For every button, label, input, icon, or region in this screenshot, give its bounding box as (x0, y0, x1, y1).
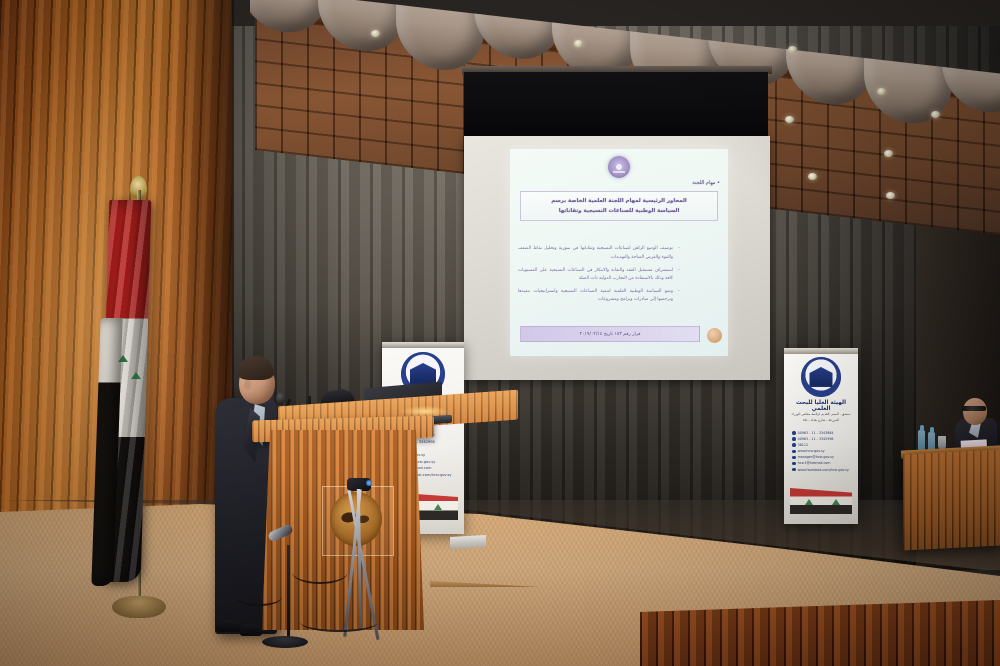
slide-bullet: استشراف مستقبل العقد والتقانة والابتكار … (518, 267, 680, 285)
slide-footer-decision-bar: قرار رقم ١٥٣ تاريخ ٢٠١٩/٠٢/١٤ (520, 326, 700, 342)
speaker-ear (244, 380, 251, 390)
flag-star-icon (118, 355, 128, 362)
contact-bullet-icon (792, 437, 796, 441)
ceiling-light-icon (886, 192, 895, 199)
speaker-shoe (216, 620, 242, 632)
slide-corner-dot-icon (707, 328, 722, 343)
conference-hall-photo: • مهام اللجنة المحاور الرئيسية لمهام الل… (0, 0, 1000, 666)
slide-title-box: المحاور الرئيسية لمهام اللجنة العلمية ال… (520, 191, 718, 221)
side-table (903, 449, 1000, 550)
banner-contact-list: 00963 - 11 - 3343864 00963 - 11 - 334299… (792, 430, 852, 473)
seated-official-head (963, 398, 987, 425)
tripod-indicator-icon (366, 480, 372, 486)
projected-slide: • مهام اللجنة المحاور الرئيسية لمهام الل… (510, 149, 728, 356)
banner-flag-star-icon (434, 504, 442, 510)
flag-star-icon (131, 372, 141, 379)
mail-icon (792, 456, 796, 460)
pull-down-projection-screen: • مهام اللجنة المحاور الرئيسية لمهام الل… (462, 66, 772, 384)
ceiling-light-icon (884, 150, 893, 157)
slide-bullet: توصيف الوضع الراهن لصناعات النسيجية وتقا… (518, 245, 680, 263)
contact-bullet-icon (792, 443, 796, 447)
slide-header-text: • مهام اللجنة (692, 180, 720, 186)
rollup-banner-right: الهيئة العليا للبحث العلمي دمشق - المبنى… (784, 348, 858, 524)
sunglasses-icon (962, 406, 986, 411)
flagpole-base (112, 596, 166, 618)
floor-microphone-stand (287, 545, 290, 645)
banner-flag-star-icon (832, 499, 840, 505)
slide-title-line-1: المحاور الرئيسية لمهام اللجنة العلمية ال… (524, 196, 714, 206)
slide-bullet-list: توصيف الوضع الراهن لصناعات النسيجية وتقا… (518, 245, 720, 308)
contact-bullet-icon (792, 431, 796, 435)
banner-subtitle-line-2: المزرعة - شارع بغداد - ط٥ (790, 418, 852, 422)
ceiling-light-icon (785, 116, 794, 123)
podium-microphone-head-icon (276, 392, 285, 405)
valance-drape (250, 0, 328, 37)
slide-title-line-2: السياسة الوطنية للصناعات النسيجية وتقانا… (524, 206, 714, 216)
valance-drape (474, 0, 562, 64)
slide-bullet: وضع السياسة الوطنية العلمية لتنمية الصنا… (518, 288, 680, 306)
banner-subtitle-line-1: دمشق - المبنى القديم لرئاسة مجلس الوزراء (790, 412, 852, 416)
drinking-glass (938, 436, 946, 449)
audio-cable (236, 588, 282, 606)
banner-title: الهيئة العليا للبحث العلمي (788, 400, 854, 412)
screen-black-leader (464, 72, 768, 138)
ceiling-light-icon (931, 111, 940, 118)
globe-icon (792, 450, 796, 454)
slide-emblem-icon (608, 156, 630, 178)
banner-flag-star-icon (805, 499, 813, 505)
facebook-icon (792, 468, 796, 472)
floor-box (450, 535, 486, 549)
audio-cable (300, 612, 378, 632)
speaker-shoe (240, 624, 262, 636)
mail-icon (792, 462, 796, 466)
banner-top-bar (382, 342, 464, 348)
valance-drape (396, 0, 484, 75)
banner-flag-ribbon (790, 488, 852, 514)
audio-cable (292, 560, 348, 584)
banner-top-bar (784, 348, 858, 354)
valance-drape (318, 0, 406, 56)
ceiling-light-icon (808, 173, 817, 180)
banner-facebook: www.facebook.com/hcsr.gov.sy (798, 467, 849, 473)
hcsr-logo-icon (801, 357, 841, 397)
floor-microphone-base (262, 636, 308, 648)
